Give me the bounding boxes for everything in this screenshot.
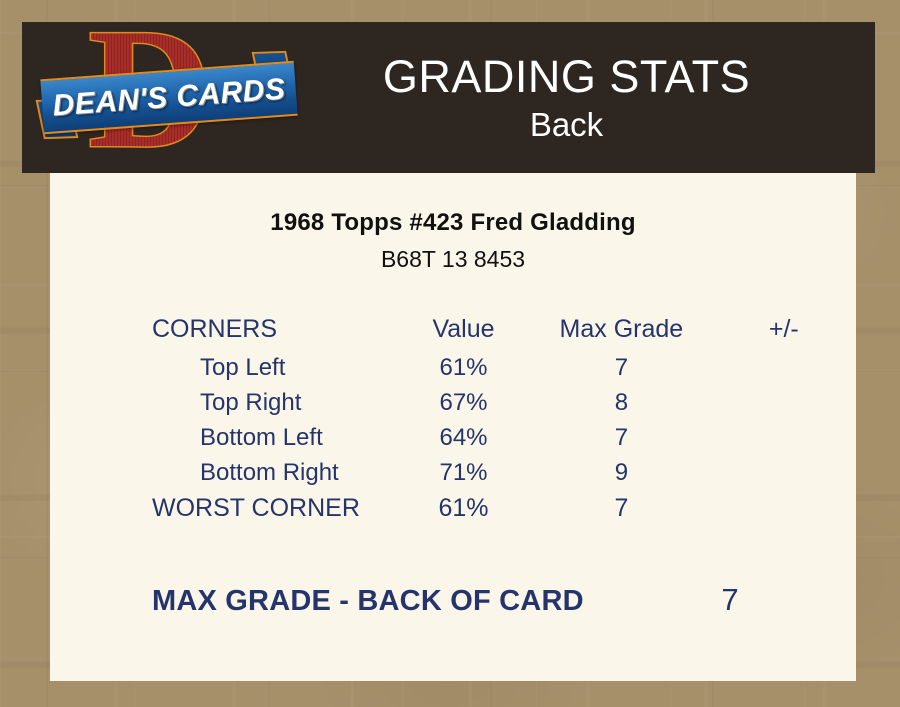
logo-ribbon-text: DEAN'S CARDS (51, 72, 286, 123)
worst-corner-value: 61% (396, 490, 531, 526)
deans-cards-logo[interactable]: D D DEAN'S CARDS (40, 25, 298, 170)
table-header-row: CORNERS Value Max Grade +/- (50, 311, 856, 350)
row-label: Bottom Right (50, 455, 396, 490)
row-max-grade: 9 (531, 455, 711, 490)
worst-corner-label: WORST CORNER (50, 490, 396, 526)
row-plus-minus (712, 350, 856, 385)
content-panel: 1968 Topps #423 Fred Gladding B68T 13 84… (50, 173, 856, 681)
table-row: Bottom Left 64% 7 (50, 420, 856, 455)
header-bar: D D DEAN'S CARDS GRADING STATS Back (22, 22, 875, 173)
row-max-grade: 8 (531, 385, 711, 420)
row-value: 61% (396, 350, 531, 385)
row-plus-minus (712, 455, 856, 490)
row-label: Top Right (50, 385, 396, 420)
header-titles: GRADING STATS Back (298, 51, 875, 145)
row-max-grade: 7 (531, 420, 711, 455)
row-value: 67% (396, 385, 531, 420)
grading-stats-table: CORNERS Value Max Grade +/- Top Left 61%… (50, 311, 856, 526)
page-title: GRADING STATS (298, 51, 835, 103)
worst-corner-plus-minus (712, 490, 856, 526)
worst-corner-row: WORST CORNER 61% 7 (50, 490, 856, 526)
row-value: 71% (396, 455, 531, 490)
table-row: Bottom Right 71% 9 (50, 455, 856, 490)
row-value: 64% (396, 420, 531, 455)
row-plus-minus (712, 420, 856, 455)
table-row: Top Left 61% 7 (50, 350, 856, 385)
max-grade-value: 7 (650, 582, 810, 618)
table-row: Top Right 67% 8 (50, 385, 856, 420)
column-header-max-grade: Max Grade (531, 311, 711, 350)
row-label: Top Left (50, 350, 396, 385)
max-grade-summary-row: MAX GRADE - BACK OF CARD 7 (50, 582, 856, 618)
card-code: B68T 13 8453 (50, 246, 856, 273)
logo-ribbon-banner: DEAN'S CARDS (40, 61, 297, 134)
row-plus-minus (712, 385, 856, 420)
page-subtitle: Back (298, 105, 835, 145)
max-grade-label: MAX GRADE - BACK OF CARD (50, 585, 650, 618)
worst-corner-max-grade: 7 (531, 490, 711, 526)
column-header-corners: CORNERS (50, 311, 396, 350)
column-header-plus-minus: +/- (712, 311, 856, 350)
row-label: Bottom Left (50, 420, 396, 455)
card-title: 1968 Topps #423 Fred Gladding (50, 209, 856, 237)
row-max-grade: 7 (531, 350, 711, 385)
column-header-value: Value (396, 311, 531, 350)
